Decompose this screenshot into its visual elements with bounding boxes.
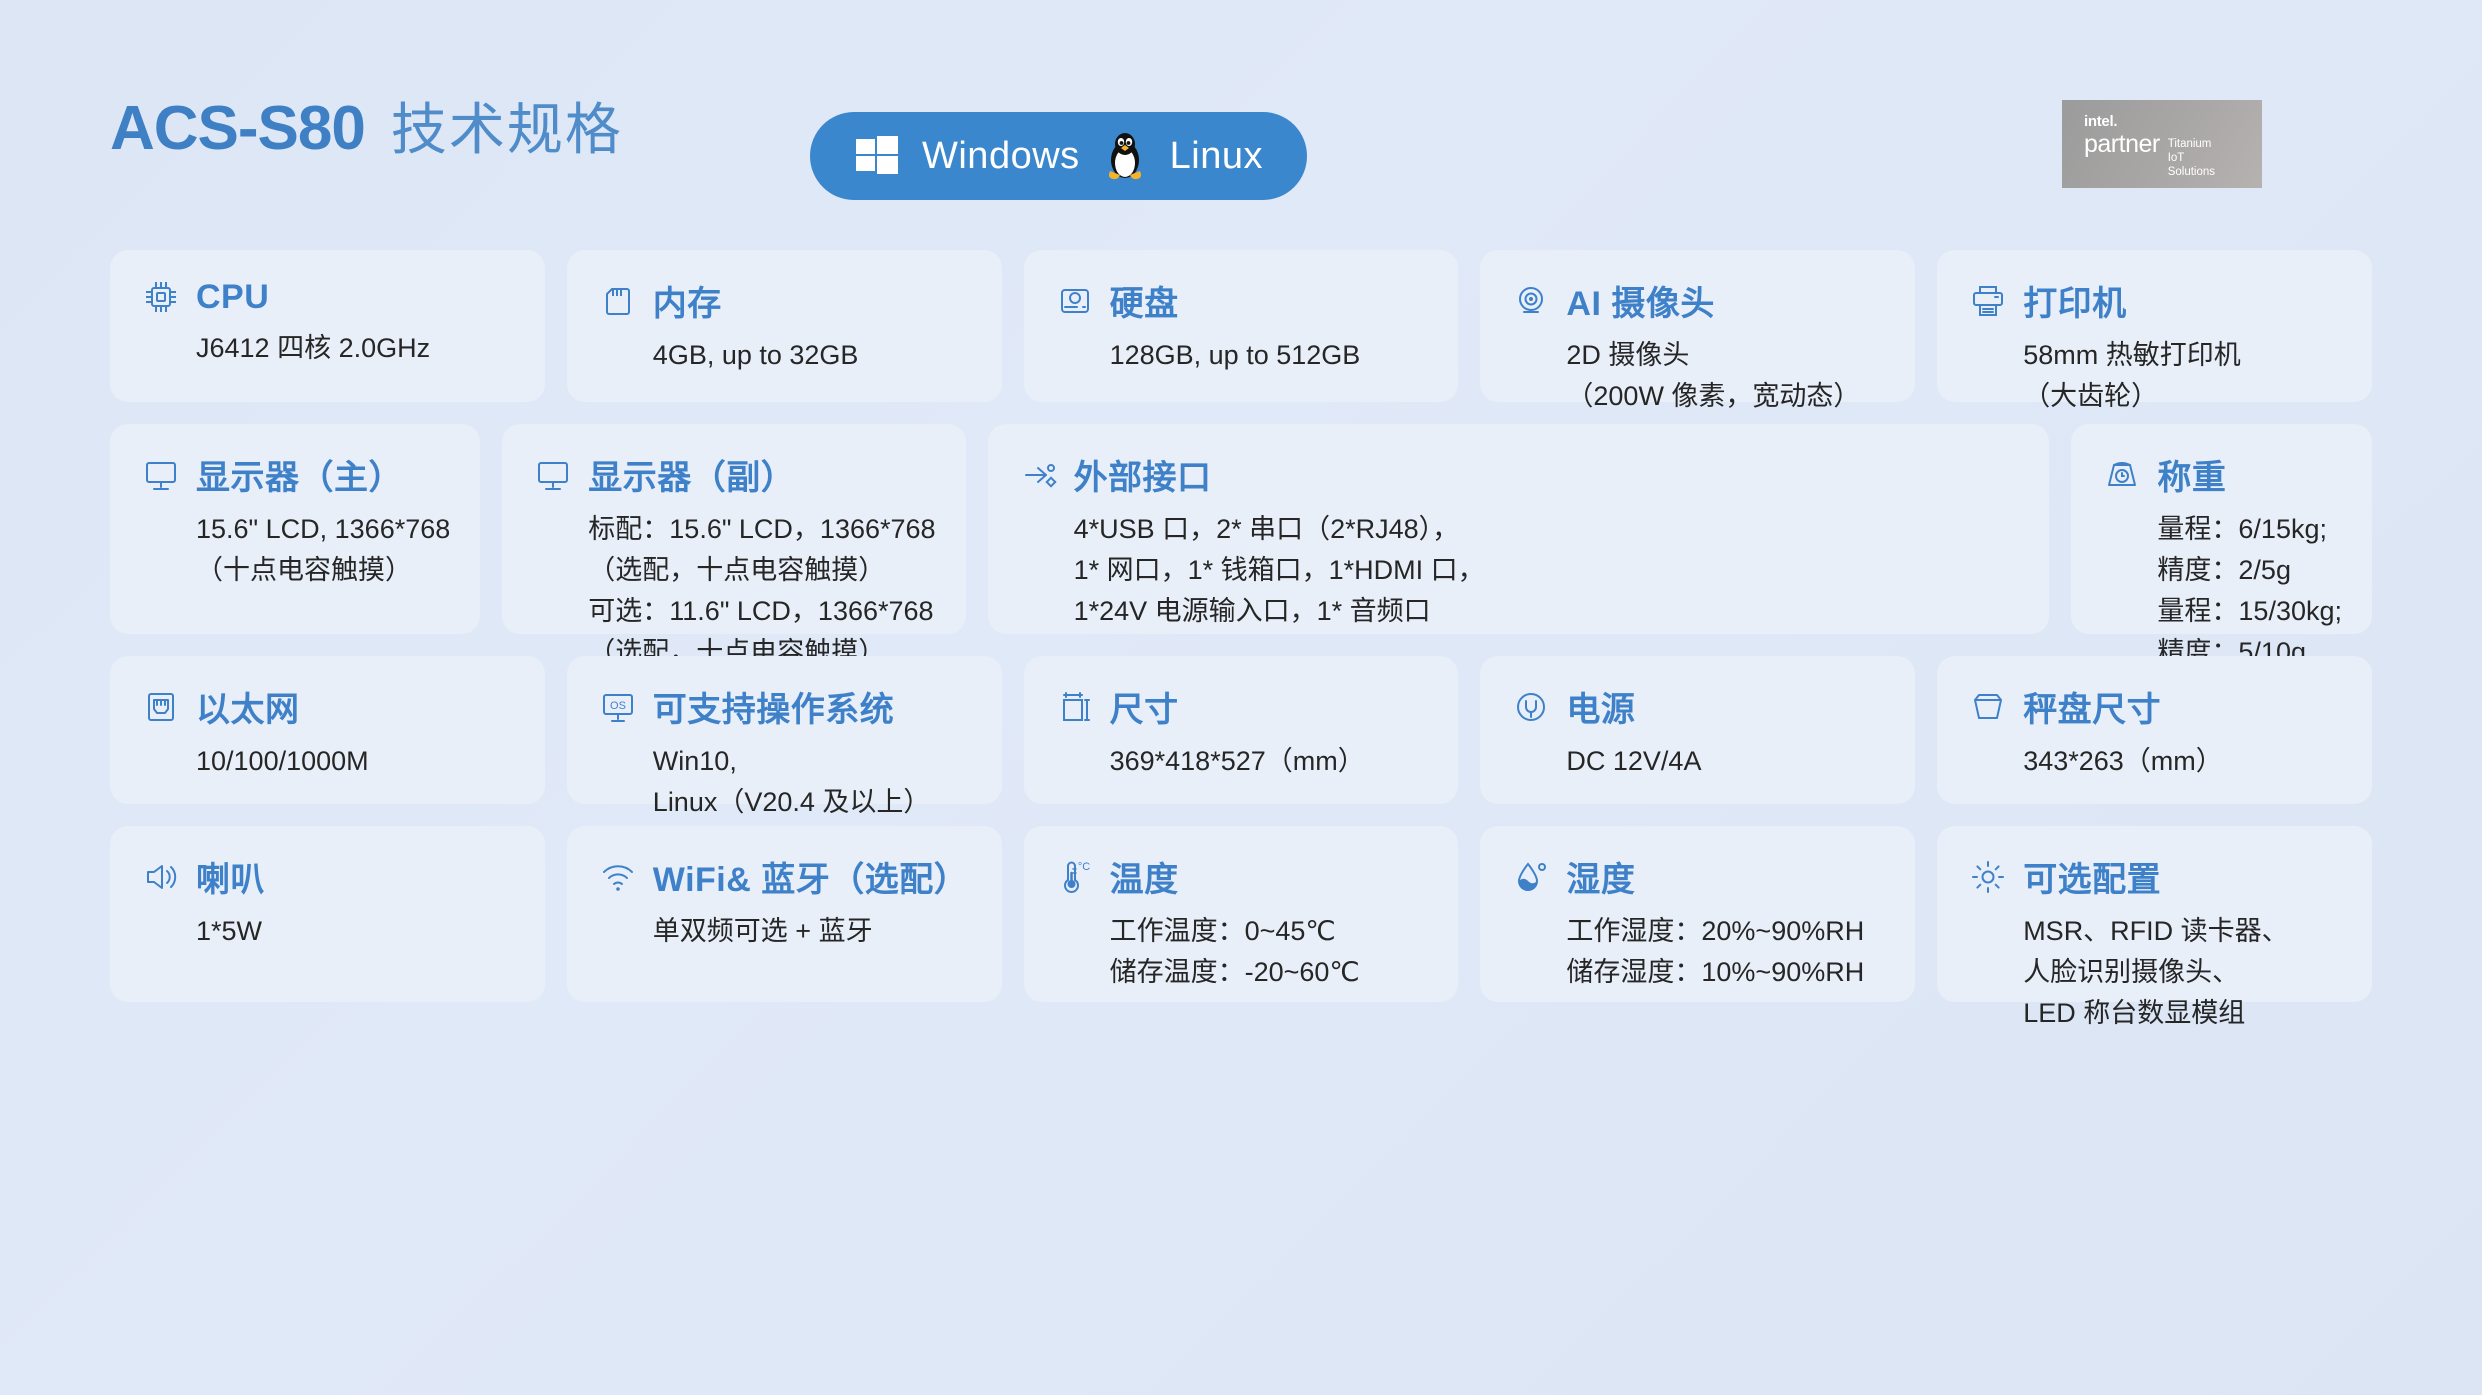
card-line: 储存湿度：10%~90%RH — [1566, 952, 1885, 993]
card-header: 称重 — [2101, 450, 2342, 499]
spec-card-optional-config: 可选配置 MSR、RFID 读卡器、 人脸识别摄像头、 LED 称台数显模组 — [1937, 826, 2372, 1002]
card-line: 1*5W — [196, 911, 515, 952]
dimensions-icon — [1054, 686, 1096, 728]
page-title: ACS-S80 技术规格 — [110, 85, 623, 166]
spec-card-platter-size: 秤盘尺寸 343*263（mm） — [1937, 656, 2372, 804]
card-line: 10/100/1000M — [196, 741, 515, 782]
card-title: 湿度 — [1566, 852, 1635, 901]
card-line: MSR、RFID 读卡器、 — [2023, 911, 2342, 952]
cpu-icon — [140, 276, 182, 318]
card-title: WiFi& 蓝牙（选配） — [653, 852, 968, 901]
card-line: （200W 像素，宽动态） — [1566, 376, 1885, 417]
printer-icon — [1967, 280, 2009, 322]
spec-sheet-page: ACS-S80 技术规格 Windows — [0, 0, 2482, 1395]
linux-label: Linux — [1170, 135, 1263, 178]
card-title: 称重 — [2157, 450, 2226, 499]
intel-brand-label: intel. — [2084, 114, 2262, 129]
card-body: 128GB, up to 512GB — [1110, 335, 1429, 376]
spec-card-os-support: OS 可支持操作系统 Win10, Linux（V20.4 及以上） — [567, 656, 1002, 804]
card-title: 硬盘 — [1110, 276, 1179, 325]
card-header: WiFi& 蓝牙（选配） — [597, 852, 972, 901]
card-title: 尺寸 — [1110, 682, 1179, 731]
spec-row-1: CPU J6412 四核 2.0GHz 内存 4GB, up to 32GB — [110, 250, 2372, 402]
card-body: 4GB, up to 32GB — [653, 335, 972, 376]
card-header: AI 摄像头 — [1510, 276, 1885, 325]
humidity-icon — [1510, 856, 1552, 898]
windows-label: Windows — [922, 135, 1080, 178]
spec-row-3: 以太网 10/100/1000M OS 可支持操作系统 Win10, Li — [110, 656, 2372, 804]
spec-card-speaker: 喇叭 1*5W — [110, 826, 545, 1002]
ethernet-icon — [140, 686, 182, 728]
spec-card-display-primary: 显示器（主） 15.6" LCD, 1366*768 （十点电容触摸） — [110, 424, 480, 634]
card-body: 58mm 热敏打印机 （大齿轮） — [2023, 335, 2342, 417]
card-title: 电源 — [1566, 682, 1635, 731]
card-header: 外部接口 — [1018, 450, 2020, 499]
card-header: 可选配置 — [1967, 852, 2342, 901]
intel-tier-line-2: IoT — [2168, 151, 2215, 165]
card-line: 2D 摄像头 — [1566, 335, 1885, 376]
card-line: （十点电容触摸） — [196, 550, 450, 591]
card-header: 显示器（副） — [532, 450, 935, 499]
card-line: 1* 网口，1* 钱箱口，1*HDMI 口， — [1074, 550, 2020, 591]
card-line: LED 称台数显模组 — [2023, 993, 2342, 1034]
page-subtitle: 技术规格 — [391, 85, 623, 166]
card-title: CPU — [196, 278, 269, 317]
card-body: 10/100/1000M — [196, 741, 515, 782]
card-header: CPU — [140, 276, 515, 318]
spec-card-display-secondary: 显示器（副） 标配：15.6" LCD，1366*768 （选配，十点电容触摸）… — [502, 424, 965, 634]
card-line: Linux（V20.4 及以上） — [653, 782, 972, 823]
card-title: 秤盘尺寸 — [2023, 682, 2161, 731]
card-title: 打印机 — [2023, 276, 2127, 325]
card-line: 58mm 热敏打印机 — [2023, 335, 2342, 376]
spec-card-printer: 打印机 58mm 热敏打印机 （大齿轮） — [1937, 250, 2372, 402]
card-body: 工作湿度：20%~90%RH 储存湿度：10%~90%RH — [1566, 911, 1885, 993]
spec-card-weighing: 称重 量程：6/15kg; 精度：2/5g 量程：15/30kg; 精度：5/1… — [2071, 424, 2372, 634]
card-body: 工作温度：0~45℃ 储存温度：-20~60℃ — [1110, 911, 1429, 993]
card-body: 369*418*527（mm） — [1110, 741, 1429, 782]
card-body: 15.6" LCD, 1366*768 （十点电容触摸） — [196, 509, 450, 591]
card-header: 内存 — [597, 276, 972, 325]
gear-icon — [1967, 856, 2009, 898]
card-line: 369*418*527（mm） — [1110, 741, 1429, 782]
card-body: 量程：6/15kg; 精度：2/5g 量程：15/30kg; 精度：5/10g — [2157, 509, 2342, 673]
card-header: 喇叭 — [140, 852, 515, 901]
card-line: 15.6" LCD, 1366*768 — [196, 509, 450, 550]
card-line: 储存温度：-20~60℃ — [1110, 952, 1429, 993]
card-title: 显示器（副） — [588, 450, 795, 499]
card-body: 2D 摄像头 （200W 像素，宽动态） — [1566, 335, 1885, 417]
card-line: 工作湿度：20%~90%RH — [1566, 911, 1885, 952]
windows-logo-icon — [854, 133, 900, 179]
intel-tier-line-3: Solutions — [2168, 165, 2215, 179]
card-line: （选配，十点电容触摸） — [588, 550, 935, 591]
spec-card-humidity: 湿度 工作湿度：20%~90%RH 储存湿度：10%~90%RH — [1480, 826, 1915, 1002]
speaker-icon — [140, 856, 182, 898]
card-title: 可选配置 — [2023, 852, 2161, 901]
svg-text:°C: °C — [1077, 861, 1089, 873]
spec-card-dimensions: 尺寸 369*418*527（mm） — [1024, 656, 1459, 804]
card-header: 硬盘 — [1054, 276, 1429, 325]
card-body: 1*5W — [196, 911, 515, 952]
card-body: MSR、RFID 读卡器、 人脸识别摄像头、 LED 称台数显模组 — [2023, 911, 2342, 1034]
card-line: 量程：15/30kg; — [2157, 591, 2342, 632]
os-support-badge: Windows Linux — [810, 112, 1307, 200]
card-title: 以太网 — [196, 682, 300, 731]
wifi-icon — [597, 856, 639, 898]
card-title: 显示器（主） — [196, 450, 403, 499]
card-body: J6412 四核 2.0GHz — [196, 328, 515, 369]
card-header: 显示器（主） — [140, 450, 450, 499]
card-line: 人脸识别摄像头、 — [2023, 952, 2342, 993]
spec-card-ai-camera: AI 摄像头 2D 摄像头 （200W 像素，宽动态） — [1480, 250, 1915, 402]
card-line: 工作温度：0~45℃ — [1110, 911, 1429, 952]
card-line: 1*24V 电源输入口，1* 音频口 — [1074, 591, 2020, 632]
card-header: 尺寸 — [1054, 682, 1429, 731]
card-line: 标配：15.6" LCD，1366*768 — [588, 509, 935, 550]
monitor-icon — [532, 454, 574, 496]
intel-partner-badge: intel. partner Titanium IoT Solutions — [2062, 100, 2262, 188]
thermometer-icon: °C — [1054, 856, 1096, 898]
card-header: 湿度 — [1510, 852, 1885, 901]
scale-platter-icon — [1967, 686, 2009, 728]
intel-tier-line-1: Titanium — [2168, 137, 2215, 151]
card-title: 温度 — [1110, 852, 1179, 901]
card-title: AI 摄像头 — [1566, 276, 1714, 325]
camera-icon — [1510, 280, 1552, 322]
spec-card-temperature: °C 温度 工作温度：0~45℃ 储存温度：-20~60℃ — [1024, 826, 1459, 1002]
power-plug-icon — [1510, 686, 1552, 728]
intel-program-label: partner — [2084, 133, 2160, 157]
card-header: 电源 — [1510, 682, 1885, 731]
memory-card-icon — [597, 280, 639, 322]
card-line: 128GB, up to 512GB — [1110, 335, 1429, 376]
linux-penguin-icon — [1102, 130, 1148, 182]
card-title: 可支持操作系统 — [653, 682, 895, 731]
scale-icon — [2101, 454, 2143, 496]
card-body: 标配：15.6" LCD，1366*768 （选配，十点电容触摸） 可选：11.… — [588, 509, 935, 673]
card-line: 单双频可选 + 蓝牙 — [653, 911, 972, 952]
card-body: DC 12V/4A — [1566, 741, 1885, 782]
card-line: 可选：11.6" LCD，1366*768 — [588, 591, 935, 632]
os-icon: OS — [597, 686, 639, 728]
page-header: ACS-S80 技术规格 Windows — [110, 0, 2372, 250]
card-line: 精度：2/5g — [2157, 550, 2342, 591]
card-line: Win10, — [653, 741, 972, 782]
hard-disk-icon — [1054, 280, 1096, 322]
spec-row-4: 喇叭 1*5W WiFi& 蓝牙（选配） 单双频可选 + 蓝牙 — [110, 826, 2372, 1002]
card-header: 打印机 — [1967, 276, 2342, 325]
card-header: OS 可支持操作系统 — [597, 682, 972, 731]
card-body: 单双频可选 + 蓝牙 — [653, 911, 972, 952]
spec-card-memory: 内存 4GB, up to 32GB — [567, 250, 1002, 402]
card-body: 4*USB 口，2* 串口（2*RJ48）， 1* 网口，1* 钱箱口，1*HD… — [1074, 509, 2020, 632]
card-header: °C 温度 — [1054, 852, 1429, 901]
card-line: J6412 四核 2.0GHz — [196, 328, 515, 369]
card-line: 343*263（mm） — [2023, 741, 2342, 782]
spec-card-external-ports: 外部接口 4*USB 口，2* 串口（2*RJ48）， 1* 网口，1* 钱箱口… — [988, 424, 2050, 634]
spec-card-wifi-bluetooth: WiFi& 蓝牙（选配） 单双频可选 + 蓝牙 — [567, 826, 1002, 1002]
card-body: Win10, Linux（V20.4 及以上） — [653, 741, 972, 823]
product-model: ACS-S80 — [110, 93, 365, 164]
svg-text:OS: OS — [610, 700, 626, 712]
spec-row-2: 显示器（主） 15.6" LCD, 1366*768 （十点电容触摸） 显示器（… — [110, 424, 2372, 634]
card-line: 4*USB 口，2* 串口（2*RJ48）， — [1074, 509, 2020, 550]
spec-card-cpu: CPU J6412 四核 2.0GHz — [110, 250, 545, 402]
intel-tier-label: Titanium IoT Solutions — [2168, 133, 2215, 179]
card-title: 外部接口 — [1074, 450, 1212, 499]
card-body: 343*263（mm） — [2023, 741, 2342, 782]
card-line: 量程：6/15kg; — [2157, 509, 2342, 550]
spec-card-ethernet: 以太网 10/100/1000M — [110, 656, 545, 804]
usb-icon — [1018, 454, 1060, 496]
card-header: 秤盘尺寸 — [1967, 682, 2342, 731]
spec-card-storage: 硬盘 128GB, up to 512GB — [1024, 250, 1459, 402]
card-line: 4GB, up to 32GB — [653, 335, 972, 376]
card-line: DC 12V/4A — [1566, 741, 1885, 782]
monitor-icon — [140, 454, 182, 496]
spec-card-power: 电源 DC 12V/4A — [1480, 656, 1915, 804]
card-header: 以太网 — [140, 682, 515, 731]
card-title: 内存 — [653, 276, 722, 325]
card-title: 喇叭 — [196, 852, 265, 901]
card-line: （大齿轮） — [2023, 376, 2342, 417]
